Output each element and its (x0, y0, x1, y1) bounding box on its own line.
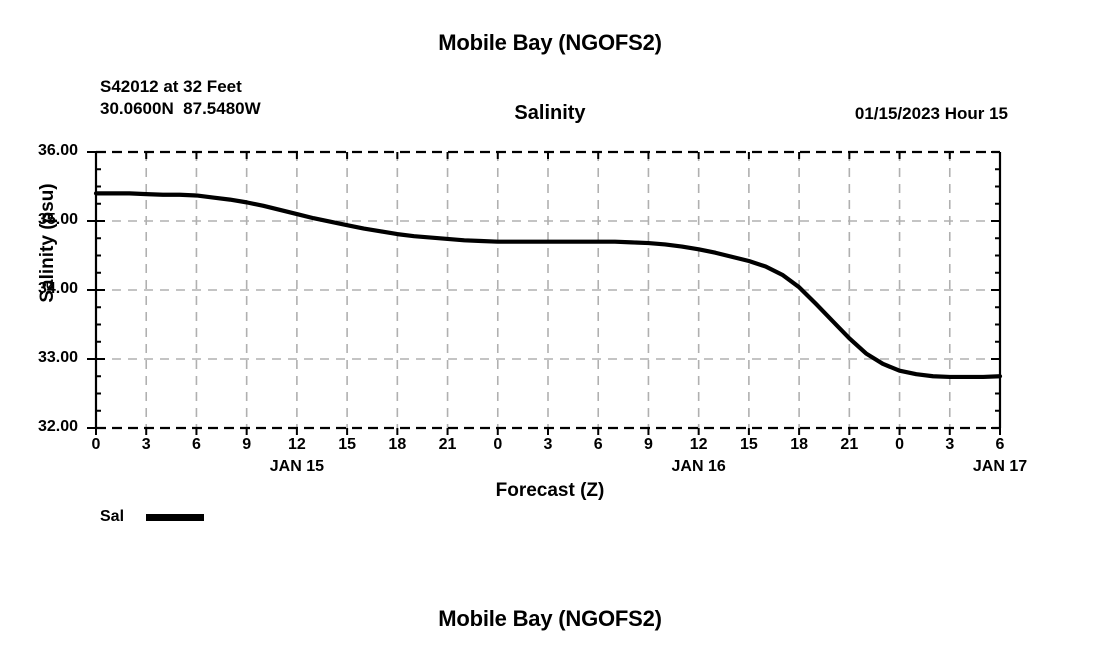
x-tick-label: 18 (377, 436, 417, 454)
y-tick-label: 34.00 (0, 280, 78, 298)
x-tick-label: 9 (628, 436, 668, 454)
day-label: JAN 17 (940, 458, 1060, 476)
x-tick-label: 0 (880, 436, 920, 454)
y-tick-label: 36.00 (0, 142, 78, 160)
footer-title: Mobile Bay (NGOFS2) (0, 606, 1100, 632)
chart-page: Mobile Bay (NGOFS2) S42012 at 32 Feet 30… (0, 0, 1100, 650)
x-tick-label: 3 (528, 436, 568, 454)
day-label: JAN 16 (639, 458, 759, 476)
y-tick-label: 32.00 (0, 418, 78, 436)
y-tick-label: 33.00 (0, 349, 78, 367)
x-tick-label: 3 (126, 436, 166, 454)
x-axis-label: Forecast (Z) (0, 480, 1100, 502)
x-tick-label: 6 (176, 436, 216, 454)
x-tick-label: 15 (729, 436, 769, 454)
x-tick-label: 12 (679, 436, 719, 454)
x-tick-label: 15 (327, 436, 367, 454)
day-label: JAN 15 (237, 458, 357, 476)
x-tick-label: 9 (227, 436, 267, 454)
chart-legend: Sal (100, 508, 204, 526)
x-tick-label: 3 (930, 436, 970, 454)
y-tick-label: 35.00 (0, 211, 78, 229)
legend-swatch-sal (146, 514, 204, 521)
x-tick-label: 12 (277, 436, 317, 454)
salinity-line-chart (0, 0, 1100, 650)
x-tick-label: 21 (428, 436, 468, 454)
x-tick-label: 0 (478, 436, 518, 454)
x-tick-label: 0 (76, 436, 116, 454)
legend-label-sal: Sal (100, 508, 124, 526)
x-tick-label: 6 (980, 436, 1020, 454)
x-tick-label: 21 (829, 436, 869, 454)
x-tick-label: 6 (578, 436, 618, 454)
x-tick-label: 18 (779, 436, 819, 454)
